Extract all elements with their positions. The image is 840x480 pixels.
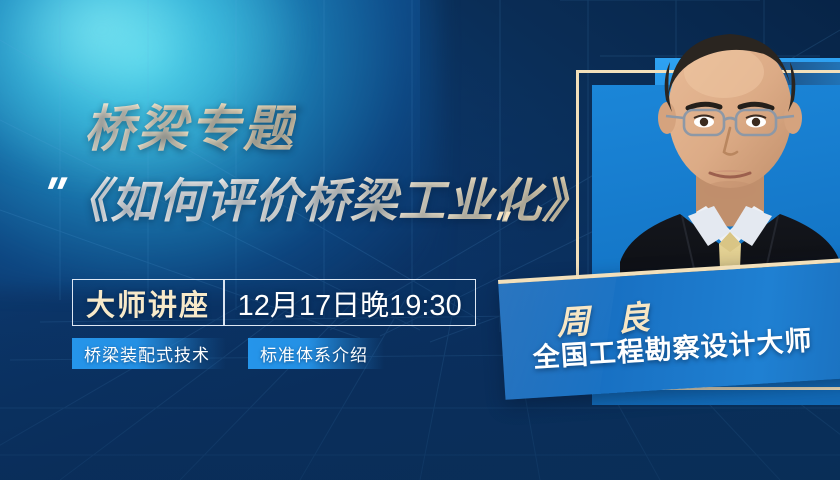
topic-tag-label: 桥梁装配式技术	[84, 341, 210, 366]
speaker-name-plate: 周 良 全国工程勘察设计大师	[498, 257, 840, 399]
lecture-info-bar: 大师讲座 12月17日晚19:30	[72, 279, 476, 326]
poster-canvas: " 桥梁专题 《如何评价桥梁工业化》 " 大师讲座 12月17日晚19:30 桥…	[0, 0, 840, 480]
page-title: 桥梁专题	[84, 101, 296, 157]
lecture-label-cell: 大师讲座	[73, 280, 223, 325]
topic-tag: 标准体系介绍	[248, 338, 384, 369]
lecture-datetime-cell: 12月17日晚19:30	[225, 280, 475, 325]
speaker-stage: 周 良 全国工程勘察设计大师	[470, 0, 840, 480]
topic-tag-label: 标准体系介绍	[260, 341, 368, 366]
topic-tag-list: 桥梁装配式技术 标准体系介绍	[72, 338, 384, 369]
lecture-datetime: 12月17日晚19:30	[238, 282, 462, 324]
topic-tag: 桥梁装配式技术	[72, 338, 226, 369]
lecture-label: 大师讲座	[86, 282, 210, 324]
